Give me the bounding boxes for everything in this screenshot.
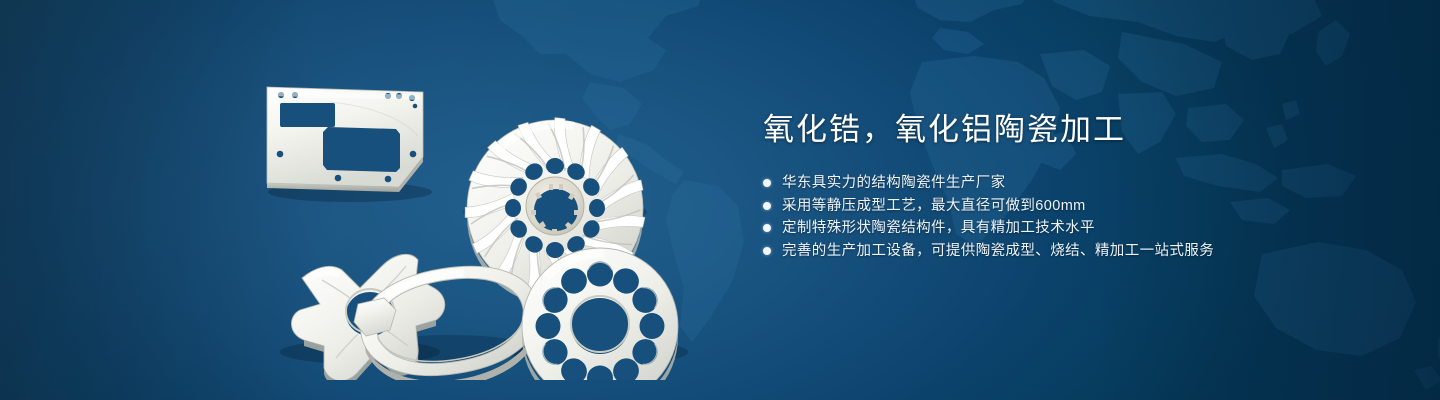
bullet-marker-icon: [763, 224, 771, 232]
list-item-label: 定制特殊形状陶瓷结构件，具有精加工技术水平: [782, 217, 1095, 240]
hero-banner: 氧化锆，氧化铝陶瓷加工 华东具实力的结构陶瓷件生产厂家 采用等静压成型工艺，最大…: [0, 0, 1440, 400]
banner-feature-list: 华东具实力的结构陶瓷件生产厂家 采用等静压成型工艺，最大直径可做到600mm 定…: [763, 172, 1383, 262]
bullet-marker-icon: [763, 202, 771, 210]
banner-headline: 氧化锆，氧化铝陶瓷加工: [763, 108, 1383, 152]
list-item: 华东具实力的结构陶瓷件生产厂家: [763, 172, 1383, 195]
bullet-marker-icon: [763, 247, 771, 255]
list-item: 采用等静压成型工艺，最大直径可做到600mm: [763, 195, 1383, 218]
bullet-marker-icon: [763, 179, 771, 187]
part-base-plate: [267, 87, 423, 192]
list-item: 完善的生产加工设备，可提供陶瓷成型、烧结、精加工一站式服务: [763, 240, 1383, 263]
list-item-label: 华东具实力的结构陶瓷件生产厂家: [782, 172, 1006, 195]
list-item: 定制特殊形状陶瓷结构件，具有精加工技术水平: [763, 217, 1383, 240]
list-item-label: 完善的生产加工设备，可提供陶瓷成型、烧结、精加工一站式服务: [782, 240, 1214, 263]
ceramic-products-image: [210, 40, 730, 380]
list-item-label: 采用等静压成型工艺，最大直径可做到600mm: [782, 195, 1086, 218]
banner-copy: 氧化锆，氧化铝陶瓷加工 华东具实力的结构陶瓷件生产厂家 采用等静压成型工艺，最大…: [763, 108, 1383, 262]
